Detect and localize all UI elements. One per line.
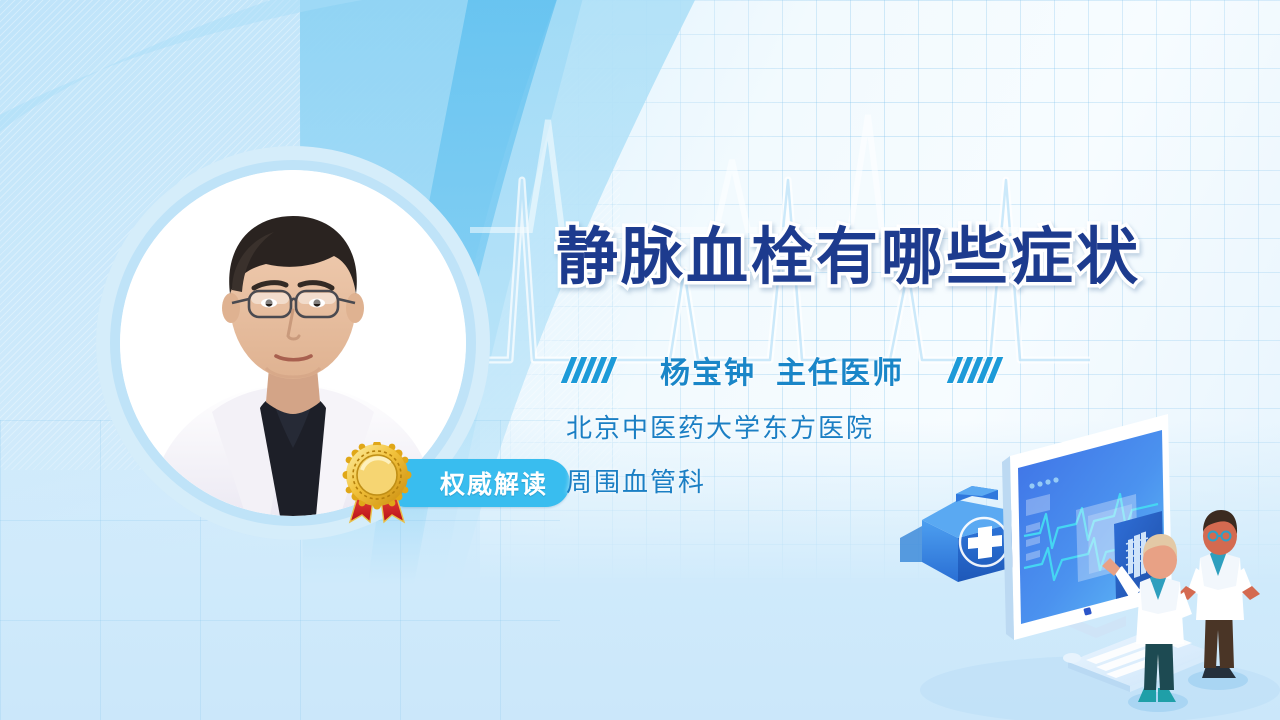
doctor-title: 主任医师 [776,348,904,392]
authority-badge[interactable]: 权威解读 [340,452,570,514]
video-cover: 权威解读 静脉血栓有哪些症状 杨宝钟 主任医师 北京中医药大学东方医院 周围血管… [0,0,1280,720]
award-medal-icon [340,442,416,524]
hatch-marks-left-icon [566,357,612,383]
doctor-name: 杨宝钟 [660,348,756,392]
doctor-department: 周围血管科 [566,462,706,499]
authority-badge-label: 权威解读 [440,465,548,501]
page-title: 静脉血栓有哪些症状 [556,206,1141,296]
doctor-credential-line: 杨宝钟 主任医师 [566,348,998,392]
doctor-hospital: 北京中医药大学东方医院 [566,408,874,445]
hatch-marks-right-icon [952,357,998,383]
isometric-telemedicine-scene [900,390,1280,720]
